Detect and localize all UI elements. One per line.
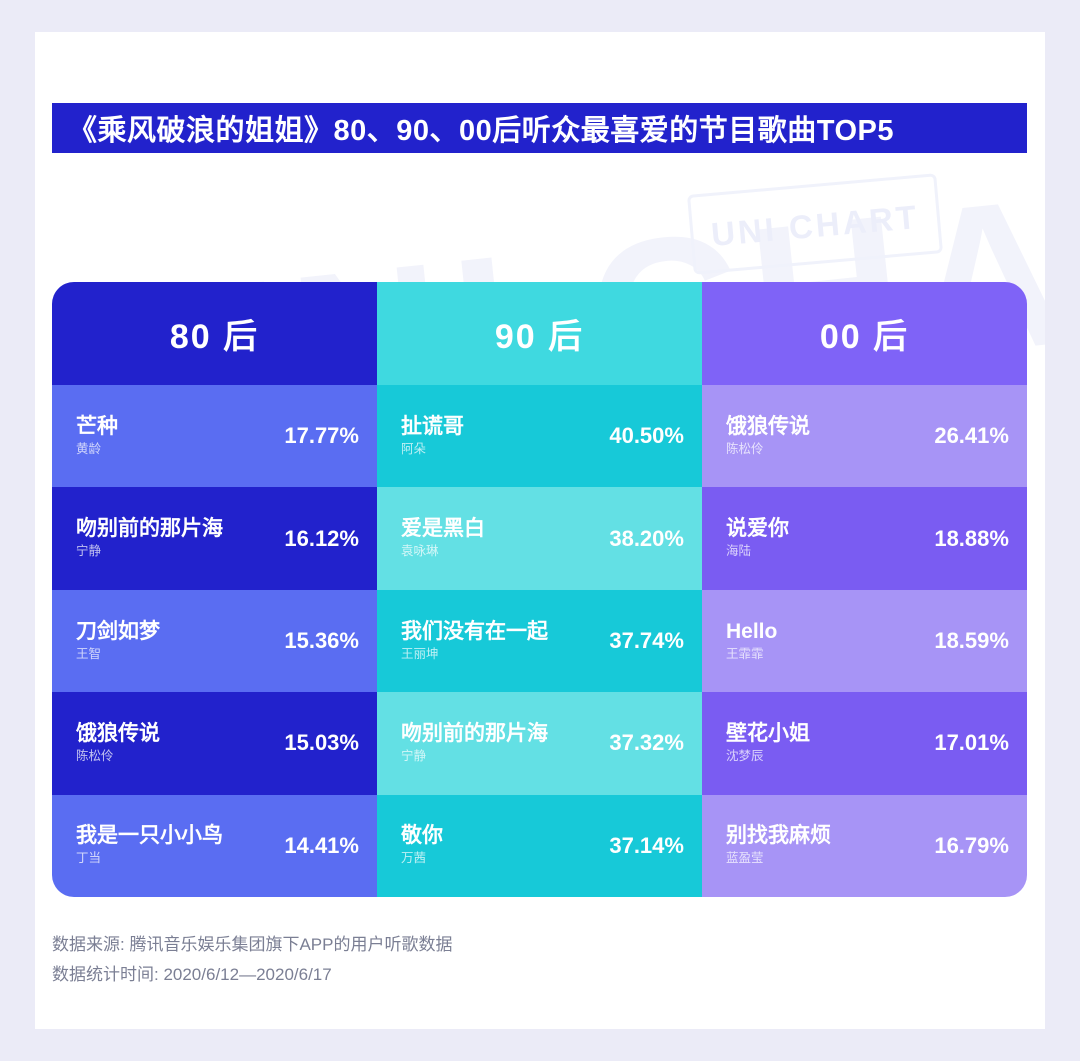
- table-row: 别找我麻烦 蓝盈莹 16.79%: [702, 795, 1027, 897]
- song-artist: 王丽坤: [401, 646, 601, 663]
- song-artist: 海陆: [726, 543, 926, 560]
- song-artist: 宁静: [76, 543, 276, 560]
- table-row: 芒种 黄龄 17.77%: [52, 385, 377, 487]
- song-artist: 沈梦辰: [726, 748, 926, 765]
- song-percentage: 17.77%: [284, 423, 359, 449]
- song-artist: 蓝盈莹: [726, 850, 926, 867]
- song-title: 我是一只小小鸟: [76, 824, 276, 848]
- song-percentage: 37.14%: [609, 833, 684, 859]
- column-80s: 80 后 芒种 黄龄 17.77% 吻别前的那片海 宁静 16.12% 刀剑如梦: [52, 282, 377, 897]
- column-header-00s: 00 后: [702, 282, 1027, 385]
- song-percentage: 16.79%: [934, 833, 1009, 859]
- song-artist: 陈松伶: [726, 441, 926, 458]
- uni-chart-watermark-label: UNI CHART: [692, 196, 938, 255]
- song-artist: 宁静: [401, 748, 601, 765]
- chart-title-bar: 《乘风破浪的姐姐》80、90、00后听众最喜爱的节目歌曲TOP5: [52, 103, 1027, 153]
- song-percentage: 37.74%: [609, 628, 684, 654]
- song-title: 爱是黑白: [401, 517, 601, 541]
- song-title: 说爱你: [726, 517, 926, 541]
- song-block: 我们没有在一起 王丽坤: [401, 620, 601, 663]
- song-artist: 王霏霏: [726, 646, 926, 663]
- table-row: 吻别前的那片海 宁静 37.32%: [377, 692, 702, 794]
- song-title: 吻别前的那片海: [76, 517, 276, 541]
- song-title: 吻别前的那片海: [401, 722, 601, 746]
- song-title: 刀剑如梦: [76, 620, 276, 644]
- song-block: 吻别前的那片海 宁静: [401, 722, 601, 765]
- table-row: 敬你 万茜 37.14%: [377, 795, 702, 897]
- song-title: 饿狼传说: [726, 415, 926, 439]
- song-percentage: 15.36%: [284, 628, 359, 654]
- data-period-note: 数据统计时间: 2020/6/12—2020/6/17: [52, 960, 452, 990]
- song-block: 敬你 万茜: [401, 824, 601, 867]
- song-block: 扯谎哥 阿朵: [401, 415, 601, 458]
- song-block: 饿狼传说 陈松伶: [76, 722, 276, 765]
- song-percentage: 14.41%: [284, 833, 359, 859]
- song-block: 芒种 黄龄: [76, 415, 276, 458]
- song-percentage: 16.12%: [284, 526, 359, 552]
- song-percentage: 37.32%: [609, 730, 684, 756]
- table-row: 扯谎哥 阿朵 40.50%: [377, 385, 702, 487]
- song-artist: 袁咏琳: [401, 543, 601, 560]
- song-percentage: 15.03%: [284, 730, 359, 756]
- song-percentage: 17.01%: [934, 730, 1009, 756]
- song-block: 饿狼传说 陈松伶: [726, 415, 926, 458]
- song-percentage: 26.41%: [934, 423, 1009, 449]
- song-artist: 丁当: [76, 850, 276, 867]
- table-row: 饿狼传说 陈松伶 26.41%: [702, 385, 1027, 487]
- song-block: 我是一只小小鸟 丁当: [76, 824, 276, 867]
- song-block: 吻别前的那片海 宁静: [76, 517, 276, 560]
- song-artist: 王智: [76, 646, 276, 663]
- table-row: 壁花小姐 沈梦辰 17.01%: [702, 692, 1027, 794]
- table-row: 饿狼传说 陈松伶 15.03%: [52, 692, 377, 794]
- column-00s: 00 后 饿狼传说 陈松伶 26.41% 说爱你 海陆 18.88% Hello: [702, 282, 1027, 897]
- infographic-card: UNI CHART UNI CHART 《乘风破浪的姐姐》80、90、00后听众…: [35, 32, 1045, 1029]
- song-block: 刀剑如梦 王智: [76, 620, 276, 663]
- page-title: 《乘风破浪的姐姐》80、90、00后听众最喜爱的节目歌曲TOP5: [68, 107, 894, 149]
- table-row: 我们没有在一起 王丽坤 37.74%: [377, 590, 702, 692]
- song-artist: 阿朵: [401, 441, 601, 458]
- song-block: 爱是黑白 袁咏琳: [401, 517, 601, 560]
- song-percentage: 40.50%: [609, 423, 684, 449]
- footer-notes: 数据来源: 腾讯音乐娱乐集团旗下APP的用户听歌数据 数据统计时间: 2020/…: [52, 930, 452, 990]
- table-row: Hello 王霏霏 18.59%: [702, 590, 1027, 692]
- uni-chart-watermark-badge: UNI CHART: [687, 173, 943, 274]
- table-row: 爱是黑白 袁咏琳 38.20%: [377, 487, 702, 589]
- song-percentage: 18.59%: [934, 628, 1009, 654]
- song-title: 芒种: [76, 415, 276, 439]
- table-row: 吻别前的那片海 宁静 16.12%: [52, 487, 377, 589]
- song-block: 说爱你 海陆: [726, 517, 926, 560]
- song-artist: 万茜: [401, 850, 601, 867]
- column-header-90s: 90 后: [377, 282, 702, 385]
- table-row: 我是一只小小鸟 丁当 14.41%: [52, 795, 377, 897]
- song-title: Hello: [726, 620, 926, 644]
- table-row: 说爱你 海陆 18.88%: [702, 487, 1027, 589]
- song-percentage: 38.20%: [609, 526, 684, 552]
- song-percentage: 18.88%: [934, 526, 1009, 552]
- song-title: 饿狼传说: [76, 722, 276, 746]
- song-title: 敬你: [401, 824, 601, 848]
- song-artist: 黄龄: [76, 441, 276, 458]
- song-title: 别找我麻烦: [726, 824, 926, 848]
- ranking-table: 80 后 芒种 黄龄 17.77% 吻别前的那片海 宁静 16.12% 刀剑如梦: [52, 282, 1027, 897]
- song-title: 扯谎哥: [401, 415, 601, 439]
- data-source-note: 数据来源: 腾讯音乐娱乐集团旗下APP的用户听歌数据: [52, 930, 452, 960]
- column-header-80s: 80 后: [52, 282, 377, 385]
- song-block: 别找我麻烦 蓝盈莹: [726, 824, 926, 867]
- table-row: 刀剑如梦 王智 15.36%: [52, 590, 377, 692]
- song-artist: 陈松伶: [76, 748, 276, 765]
- song-block: 壁花小姐 沈梦辰: [726, 722, 926, 765]
- song-title: 壁花小姐: [726, 722, 926, 746]
- song-title: 我们没有在一起: [401, 620, 601, 644]
- column-90s: 90 后 扯谎哥 阿朵 40.50% 爱是黑白 袁咏琳 38.20% 我们没有在…: [377, 282, 702, 897]
- song-block: Hello 王霏霏: [726, 620, 926, 663]
